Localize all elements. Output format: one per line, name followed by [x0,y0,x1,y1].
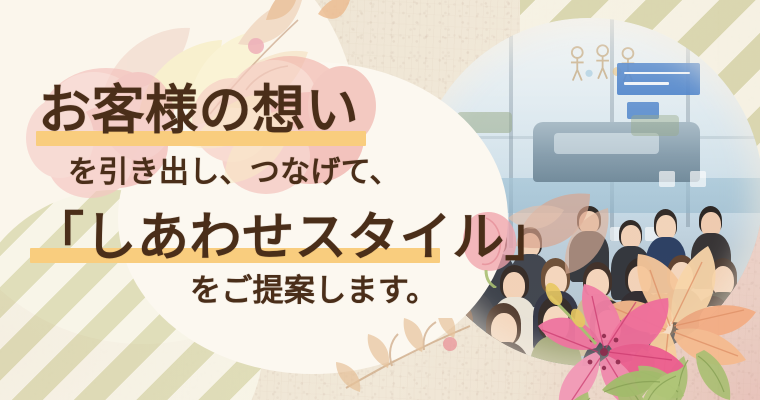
station-sign [617,63,701,94]
headline-line-1: お客様の想い [38,84,359,137]
hero-banner: お客様の想い を引き出し、つなげて、 「しあわせスタイル」 をご提案します。 [0,0,760,400]
person-front-row [582,300,634,366]
headline-copy-block: お客様の想い を引き出し、つなげて、 「しあわせスタイル」 をご提案します。 [0,0,470,400]
sign-text-line [624,72,690,74]
person-front-row [530,296,582,366]
person-front-row [686,296,738,366]
person-front-row [478,303,530,366]
wall-pictogram [659,171,675,187]
headline-line-3: 「しあわせスタイル」 [32,212,557,264]
headline-line-4: をご提案します。 [190,275,437,306]
headline-line-2: を引き出し、つなげて、 [68,158,400,188]
sign-text-line [624,82,669,85]
planter-greenery [631,115,680,136]
wall-pictogram [690,171,706,187]
person-front-row [634,293,686,366]
